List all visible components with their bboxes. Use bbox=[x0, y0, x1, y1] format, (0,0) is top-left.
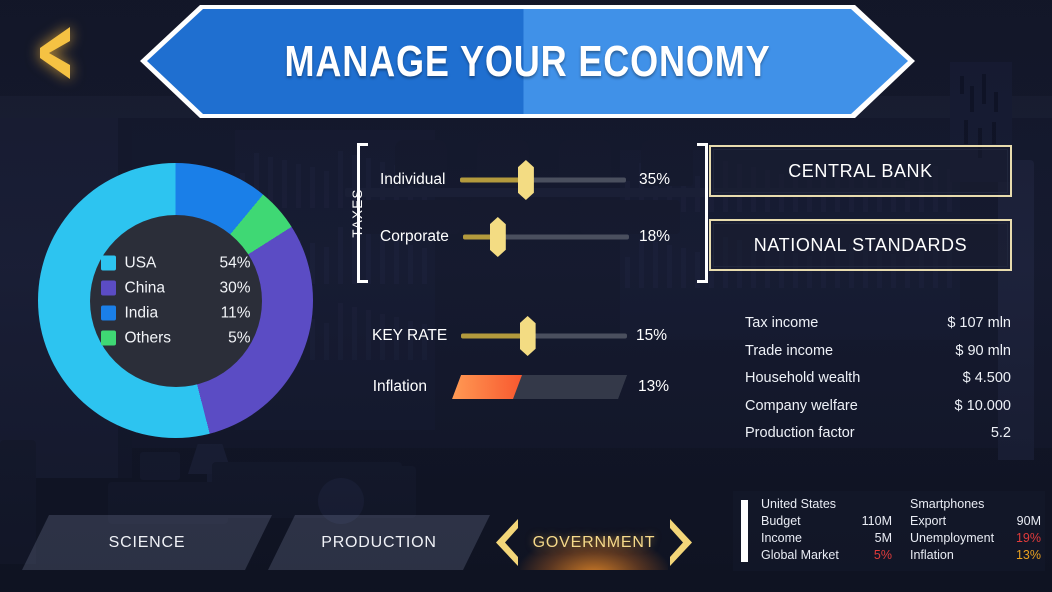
inflation-label: Inflation bbox=[373, 378, 427, 396]
slider-label-key-rate: KEY RATE bbox=[372, 327, 447, 345]
hud-stat-key: Inflation bbox=[910, 548, 954, 565]
inflation-value: 13% bbox=[638, 378, 669, 396]
hud-stat-key: Budget bbox=[761, 514, 801, 531]
legend-value: 5% bbox=[228, 329, 250, 347]
legend-item: USA54% bbox=[101, 254, 251, 272]
central-bank-button-label: CENTRAL BANK bbox=[788, 161, 933, 182]
slider-value-corporate: 18% bbox=[639, 228, 670, 246]
hud-stat-value: 110M bbox=[856, 514, 892, 531]
economy-stats-list: Tax income$ 107 mlnTrade income$ 90 mlnH… bbox=[745, 315, 1011, 453]
taxes-bracket-right bbox=[697, 143, 708, 283]
stat-label: Trade income bbox=[745, 343, 833, 359]
tab-science-label: SCIENCE bbox=[109, 534, 186, 552]
stat-label: Production factor bbox=[745, 425, 855, 441]
tab-government[interactable]: GOVERNMENT bbox=[496, 515, 692, 570]
legend-value: 54% bbox=[219, 254, 250, 272]
legend-swatch-icon bbox=[101, 331, 116, 346]
hud-stat-row: Unemployment19% bbox=[910, 531, 1041, 548]
stat-row: Company welfare$ 10.000 bbox=[745, 398, 1011, 426]
hud-stat-row: Export90M bbox=[910, 514, 1041, 531]
legend-swatch-icon bbox=[101, 306, 116, 321]
slider-row-individual-tax: Individual 35% bbox=[380, 167, 670, 193]
chevron-right-icon bbox=[670, 519, 692, 566]
legend-value: 30% bbox=[219, 279, 250, 297]
donut-legend: USA54%China30%India11%Others5% bbox=[101, 254, 251, 347]
hud-stat-value: 19% bbox=[1010, 531, 1041, 548]
slider-track-corporate[interactable] bbox=[463, 224, 629, 250]
slider-knob-corporate[interactable] bbox=[490, 217, 506, 257]
legend-label: USA bbox=[125, 254, 220, 272]
slider-value-individual: 35% bbox=[639, 171, 670, 189]
slider-track-fill-individual bbox=[460, 178, 526, 183]
stat-row: Production factor5.2 bbox=[745, 425, 1011, 453]
legend-item: Others5% bbox=[101, 329, 251, 347]
tab-production-label: PRODUCTION bbox=[321, 534, 437, 552]
legend-swatch-icon bbox=[101, 281, 116, 296]
hud-stat-row: Income5M bbox=[761, 531, 892, 548]
hud-stat-key: Global Market bbox=[761, 548, 839, 565]
legend-value: 11% bbox=[221, 304, 251, 322]
national-standards-button-label: NATIONAL STANDARDS bbox=[754, 235, 968, 256]
stat-row: Trade income$ 90 mln bbox=[745, 343, 1011, 371]
legend-item: India11% bbox=[101, 304, 251, 322]
hud-column-title: United States bbox=[761, 497, 892, 514]
hud-stat-value: 13% bbox=[1010, 548, 1041, 565]
hud-stat-key: Unemployment bbox=[910, 531, 994, 548]
central-bank-button[interactable]: CENTRAL BANK bbox=[709, 145, 1012, 197]
slider-row-key-rate: KEY RATE 15% bbox=[372, 323, 667, 349]
slider-knob-individual[interactable] bbox=[518, 160, 534, 200]
back-arrow-icon[interactable] bbox=[36, 27, 70, 79]
page-title: MANAGE YOUR ECONOMY bbox=[210, 5, 846, 118]
economy-share-donut-chart: USA54%China30%India11%Others5% bbox=[38, 163, 313, 438]
hud-stat-key: Export bbox=[910, 514, 946, 531]
stat-value: $ 90 mln bbox=[955, 343, 1011, 359]
legend-label: China bbox=[125, 279, 220, 297]
stat-row: Tax income$ 107 mln bbox=[745, 315, 1011, 343]
hud-column-country: United StatesBudget110MIncome5MGlobal Ma… bbox=[761, 497, 892, 565]
hud-stat-value: 90M bbox=[1011, 514, 1041, 531]
hud-column-product: SmartphonesExport90MUnemployment19%Infla… bbox=[910, 497, 1041, 565]
bottom-tab-bar: SCIENCE PRODUCTION GOVERNMENT bbox=[0, 515, 720, 570]
hud-grid: United StatesBudget110MIncome5MGlobal Ma… bbox=[761, 497, 1041, 565]
slider-track-individual[interactable] bbox=[460, 167, 626, 193]
hud-stat-value: 5M bbox=[869, 531, 892, 548]
legend-item: China30% bbox=[101, 279, 251, 297]
stat-value: $ 4.500 bbox=[963, 370, 1011, 386]
slider-knob-key-rate[interactable] bbox=[520, 316, 536, 356]
tab-science[interactable]: SCIENCE bbox=[22, 515, 272, 570]
inflation-progress-fill bbox=[452, 375, 522, 399]
tab-government-label: GOVERNMENT bbox=[533, 534, 656, 552]
hud-stat-row: Budget110M bbox=[761, 514, 892, 531]
hud-stat-key: Income bbox=[761, 531, 802, 548]
national-standards-button[interactable]: NATIONAL STANDARDS bbox=[709, 219, 1012, 271]
inflation-row: Inflation 13% bbox=[335, 373, 665, 401]
stat-value: $ 107 mln bbox=[947, 315, 1011, 331]
tab-production[interactable]: PRODUCTION bbox=[268, 515, 490, 570]
hud-stat-value: 5% bbox=[868, 548, 892, 565]
stat-label: Household wealth bbox=[745, 370, 860, 386]
inflation-progress-bar bbox=[452, 375, 627, 399]
legend-label: Others bbox=[125, 329, 229, 347]
hud-marker bbox=[741, 500, 748, 562]
legend-label: India bbox=[125, 304, 221, 322]
chevron-left-icon bbox=[496, 519, 518, 566]
stat-row: Household wealth$ 4.500 bbox=[745, 370, 1011, 398]
status-hud-panel: United StatesBudget110MIncome5MGlobal Ma… bbox=[733, 491, 1045, 571]
slider-track-fill-key-rate bbox=[461, 334, 527, 339]
taxes-bracket-left bbox=[357, 143, 368, 283]
hud-stat-row: Global Market5% bbox=[761, 548, 892, 565]
hud-column-title: Smartphones bbox=[910, 497, 1041, 514]
slider-track-key-rate[interactable] bbox=[461, 323, 627, 349]
stat-value: 5.2 bbox=[991, 425, 1011, 441]
slider-label-corporate: Corporate bbox=[380, 228, 449, 246]
stat-value: $ 10.000 bbox=[955, 398, 1011, 414]
slider-label-individual: Individual bbox=[380, 171, 446, 189]
slider-value-key-rate: 15% bbox=[636, 327, 667, 345]
header-banner: MANAGE YOUR ECONOMY bbox=[140, 5, 915, 118]
slider-row-corporate-tax: Corporate 18% bbox=[380, 224, 670, 250]
stat-label: Tax income bbox=[745, 315, 818, 331]
stat-label: Company welfare bbox=[745, 398, 858, 414]
legend-swatch-icon bbox=[101, 256, 116, 271]
hud-stat-row: Inflation13% bbox=[910, 548, 1041, 565]
taxes-group: TAXES bbox=[335, 143, 685, 283]
